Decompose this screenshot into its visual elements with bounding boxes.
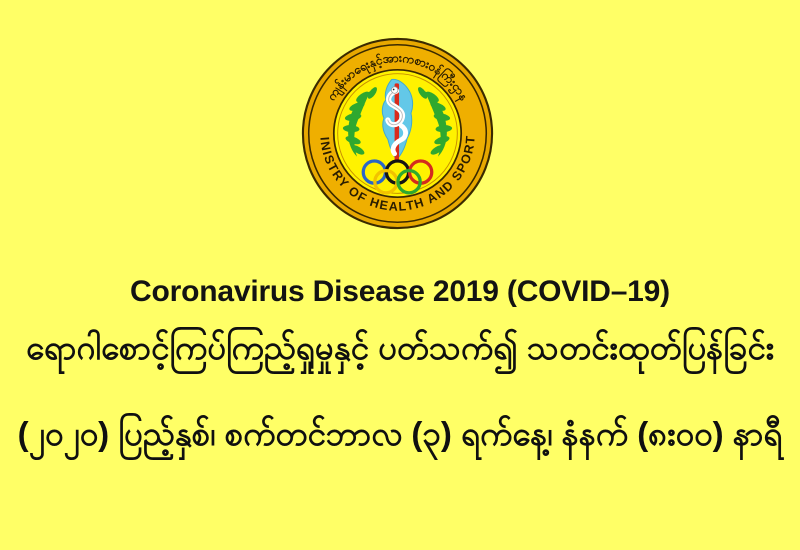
page-title-english: Coronavirus Disease 2019 (COVID–19)	[0, 275, 800, 309]
subtitle-burmese-datetime: (၂၀၂၀) ပြည့်နှစ်၊ စက်တင်ဘာလ (၃) ရက်နေ့၊ …	[18, 413, 783, 454]
covid-press-release-banner: ကျန်းမာရေးနှင့်အားကစားဝန်ကြီးဌာန MINISTR…	[0, 0, 800, 550]
ministry-seal-logo: ကျန်းမာရေးနှင့်အားကစားဝန်ကြီးဌာန MINISTR…	[301, 37, 494, 230]
subtitle-burmese-surveillance: ရောဂါစောင့်ကြပ်ကြည့်ရှုမှုနှင့် ပတ်သက်၍ …	[26, 327, 774, 368]
